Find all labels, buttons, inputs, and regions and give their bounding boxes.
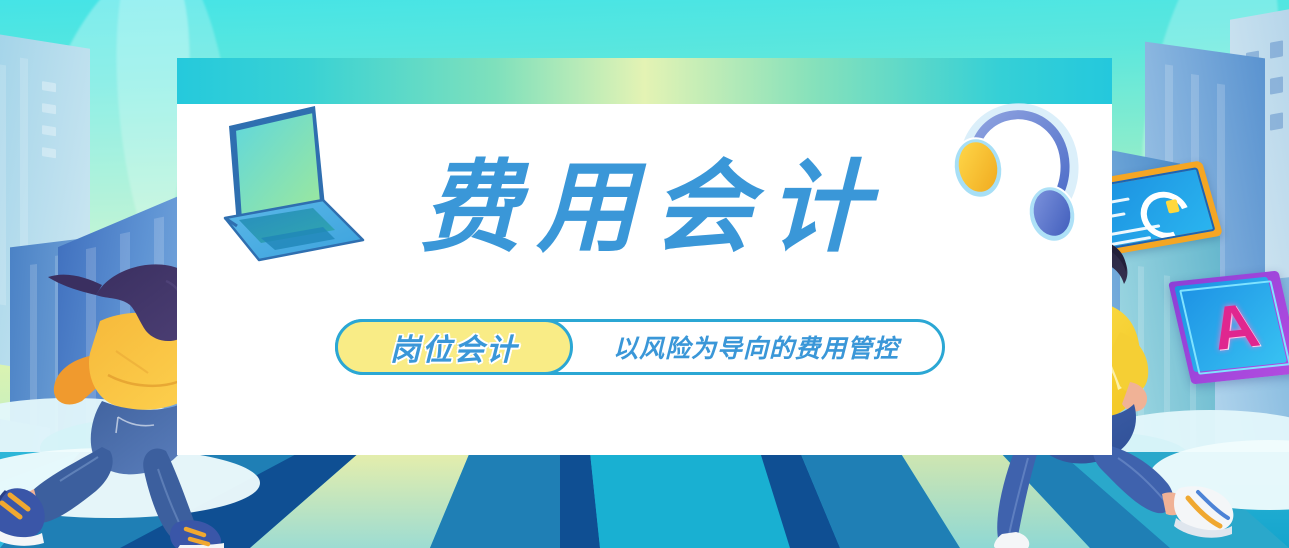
banner-title: 费用会计 — [177, 158, 1112, 258]
tagline-text: 以风险为导向的费用管控 — [586, 322, 926, 372]
badge-label: 岗位会计 — [390, 325, 518, 369]
badge-chip: 岗位会计 — [335, 319, 573, 375]
subtitle-pill: 以风险为导向的费用管控 岗位会计 — [335, 319, 945, 375]
course-banner: A — [0, 0, 1289, 548]
